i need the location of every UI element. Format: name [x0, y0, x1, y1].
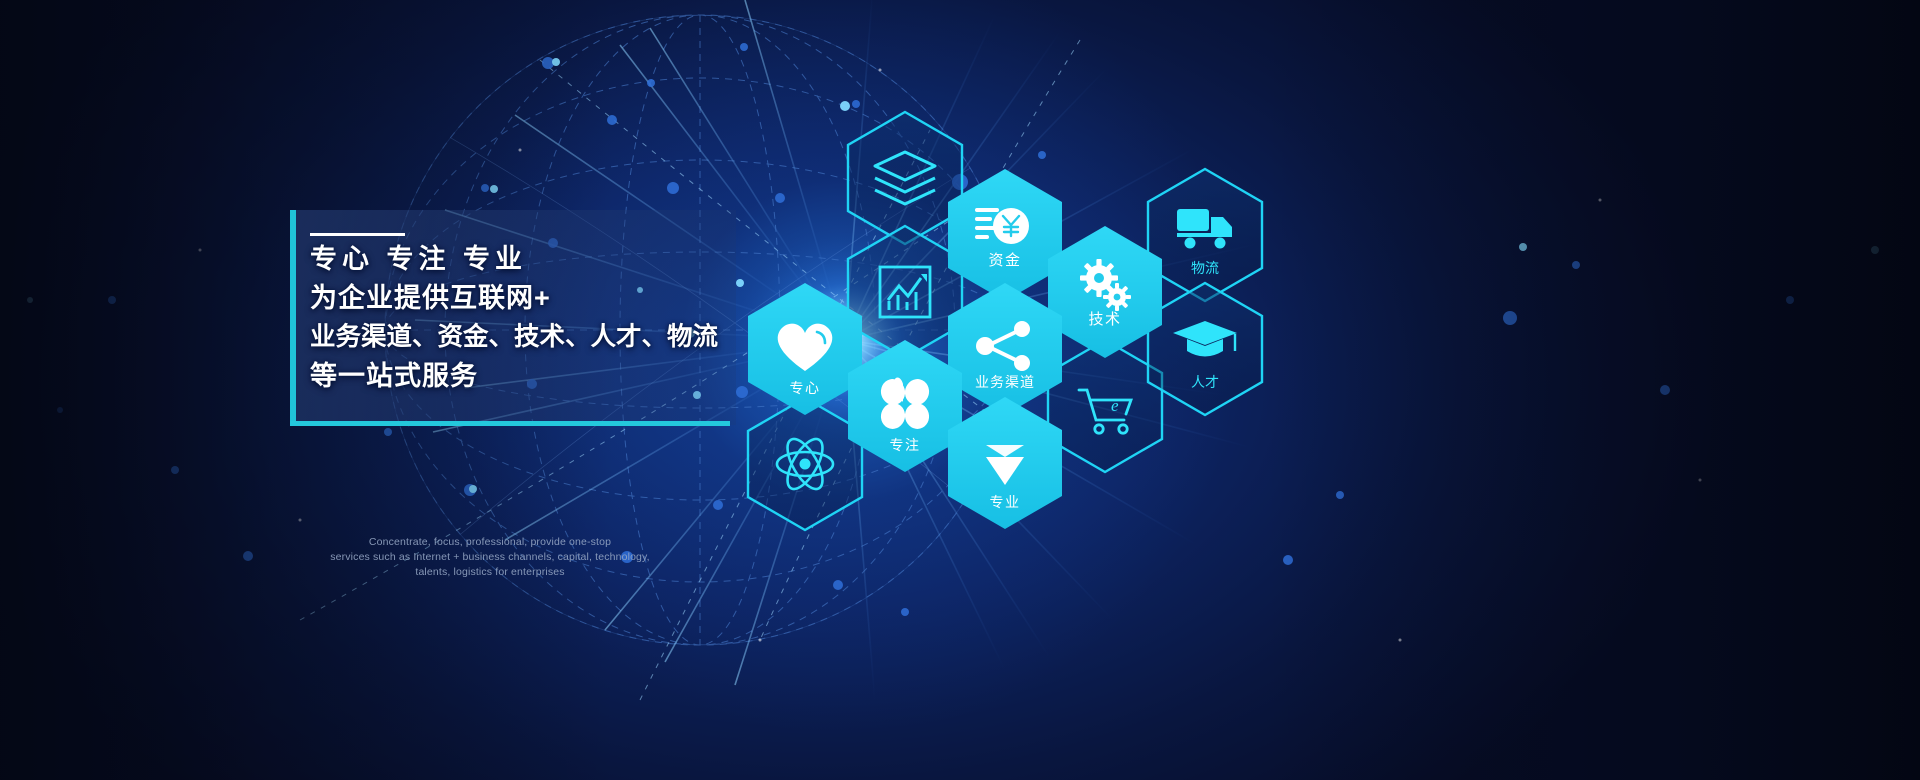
- hex-label-focus: 专心: [790, 381, 821, 397]
- hex-chart: [848, 226, 962, 358]
- hex-capital: 资金: [948, 169, 1062, 301]
- banner-hero: e 物流 人才: [0, 0, 1920, 780]
- hex-label-tech: 技术: [1088, 310, 1121, 328]
- caption-line-1: Concentrate, focus, professional, provid…: [330, 535, 650, 550]
- hex-label-logistics: 物流: [1191, 261, 1219, 277]
- headline-line-3: 业务渠道、资金、技术、人才、物流: [310, 318, 740, 357]
- hexagon-cluster: e 物流 人才: [0, 0, 1920, 780]
- headline-block: 专心 专注 专业 为企业提供互联网+ 业务渠道、资金、技术、人才、物流 等一站式…: [310, 240, 740, 396]
- hex-label-capital: 资金: [988, 251, 1021, 269]
- svg-text:e: e: [1111, 396, 1119, 415]
- english-caption: Concentrate, focus, professional, provid…: [330, 535, 650, 580]
- hex-logistics: 物流: [1148, 169, 1262, 301]
- headline-line-4: 等一站式服务: [310, 357, 740, 396]
- hex-label-professional: 专业: [990, 495, 1021, 511]
- hex-layers: [848, 112, 962, 244]
- hex-label-channels: 业务渠道: [975, 375, 1035, 391]
- headline-underline: [290, 421, 730, 426]
- hex-focus: 专心: [748, 283, 862, 415]
- caption-line-3: talents, logistics for enterprises: [330, 565, 650, 580]
- headline-line-1: 专心 专注 专业: [310, 240, 740, 279]
- hex-label-concentrate: 专注: [890, 438, 921, 454]
- hex-tech: 技术: [1048, 226, 1162, 358]
- caption-line-2: services such as Internet + business cha…: [330, 550, 650, 565]
- headline-rule: [310, 233, 405, 236]
- hex-talent: 人才: [1148, 283, 1262, 415]
- hex-atom: [748, 398, 862, 530]
- hex-concentrate: 专注: [848, 340, 962, 472]
- hex-professional: 专业: [948, 397, 1062, 529]
- hex-label-talent: 人才: [1191, 375, 1219, 391]
- headline-line-2: 为企业提供互联网+: [310, 279, 740, 318]
- hex-channels: 业务渠道: [948, 283, 1062, 415]
- hex-ecart: e: [1048, 340, 1162, 472]
